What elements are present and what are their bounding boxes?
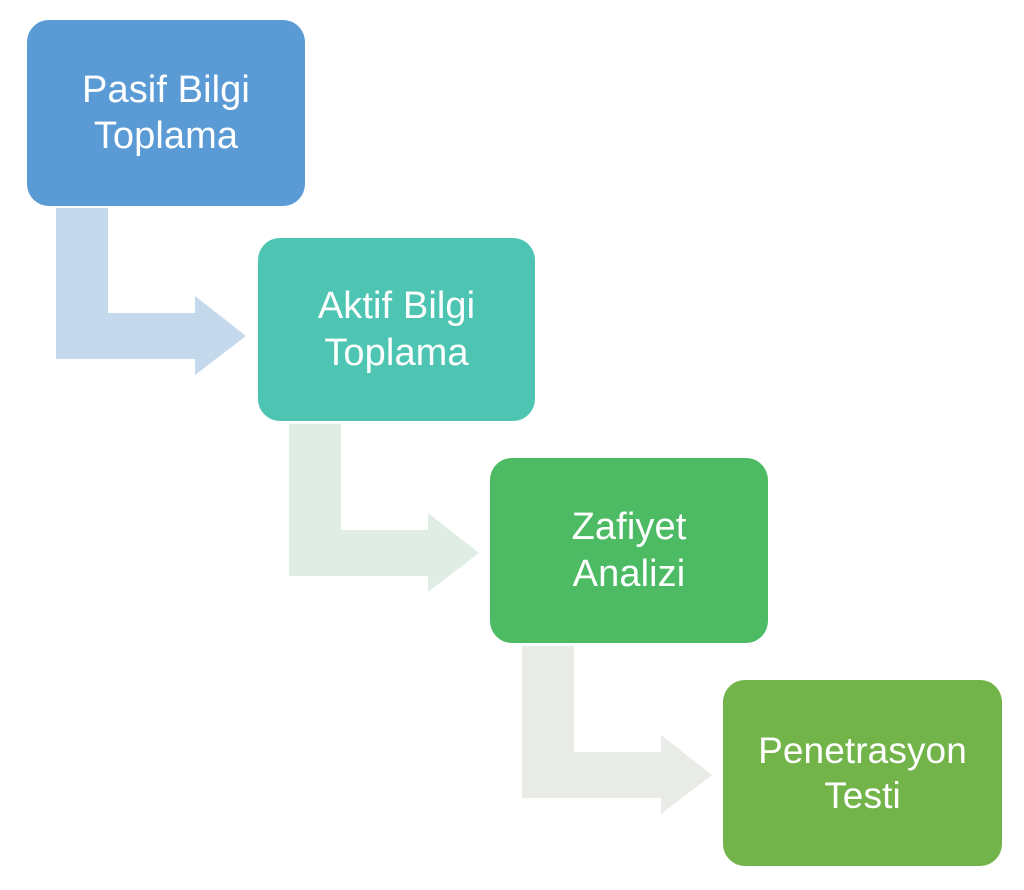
elbow-arrow-down-right-icon [289,424,479,592]
process-step-label: Penetrasyon Testi [744,728,981,818]
process-step-pasif-bilgi-toplama[interactable]: Pasif Bilgi Toplama [27,20,305,206]
elbow-arrow-down-right-icon [56,208,246,375]
process-step-aktif-bilgi-toplama[interactable]: Aktif Bilgi Toplama [258,238,535,421]
process-flow-diagram: Pasif Bilgi Toplama Aktif Bilgi Toplama … [0,0,1024,890]
process-step-zafiyet-analizi[interactable]: Zafiyet Analizi [490,458,768,643]
process-step-label: Zafiyet Analizi [558,504,701,597]
process-step-label: Pasif Bilgi Toplama [68,67,264,160]
process-step-label: Aktif Bilgi Toplama [304,283,489,376]
process-step-penetrasyon-testi[interactable]: Penetrasyon Testi [723,680,1002,866]
elbow-arrow-down-right-icon [522,646,712,814]
